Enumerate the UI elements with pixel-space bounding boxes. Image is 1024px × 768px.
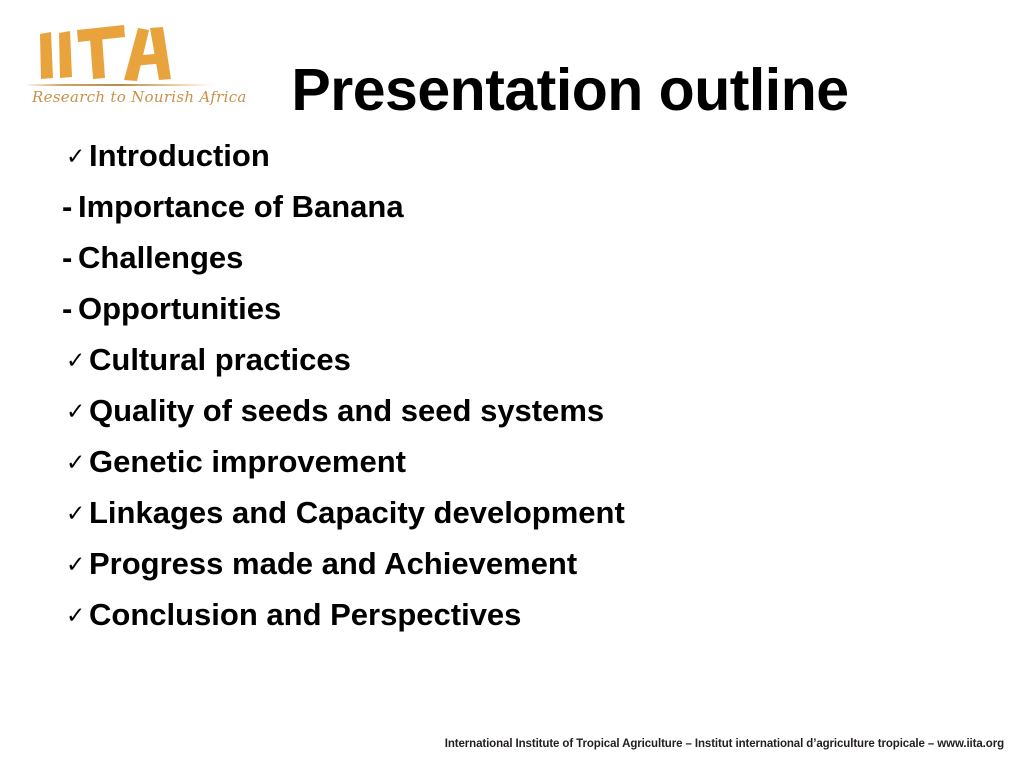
checkmark-icon: ✓ — [66, 335, 89, 386]
outline-item-label: Importance of Banana — [78, 189, 404, 224]
page-title: Presentation outline — [270, 60, 870, 122]
iita-logo-mark — [20, 22, 220, 88]
outline-item: ✓Quality of seeds and seed systems — [66, 385, 966, 436]
checkmark-icon: ✓ — [66, 386, 89, 437]
outline-item: -Challenges — [66, 232, 966, 283]
outline-item-label: Opportunities — [78, 291, 281, 326]
checkmark-icon: ✓ — [66, 131, 89, 182]
outline-item-label: Quality of seeds and seed systems — [89, 393, 604, 428]
outline-item: -Opportunities — [66, 283, 966, 334]
outline-item: ✓Progress made and Achievement — [66, 538, 966, 589]
checkmark-icon: ✓ — [66, 539, 89, 590]
checkmark-icon: ✓ — [66, 437, 89, 488]
iita-logo: Research to Nourish Africa — [20, 22, 220, 114]
outline-item: -Importance of Banana — [66, 181, 966, 232]
outline-item: ✓Cultural practices — [66, 334, 966, 385]
dash-bullet-icon: - — [62, 232, 78, 283]
checkmark-icon: ✓ — [66, 590, 89, 641]
presentation-slide: Research to Nourish Africa Presentation … — [0, 0, 1024, 768]
outline-list: ✓Introduction-Importance of Banana-Chall… — [66, 130, 966, 640]
outline-item: ✓Genetic improvement — [66, 436, 966, 487]
outline-item-label: Cultural practices — [89, 342, 351, 377]
outline-item-label: Genetic improvement — [89, 444, 406, 479]
logo-divider-line — [28, 84, 213, 86]
outline-item: ✓Introduction — [66, 130, 966, 181]
dash-bullet-icon: - — [62, 181, 78, 232]
outline-item: ✓Linkages and Capacity development — [66, 487, 966, 538]
outline-item-label: Challenges — [78, 240, 243, 275]
dash-bullet-icon: - — [62, 283, 78, 334]
outline-item: ✓Conclusion and Perspectives — [66, 589, 966, 640]
outline-item-label: Introduction — [89, 138, 270, 173]
checkmark-icon: ✓ — [66, 488, 89, 539]
slide-footer: International Institute of Tropical Agri… — [24, 738, 1004, 750]
logo-tagline: Research to Nourish Africa — [32, 88, 222, 106]
outline-item-label: Linkages and Capacity development — [89, 495, 625, 530]
outline-item-label: Progress made and Achievement — [89, 546, 577, 581]
outline-item-label: Conclusion and Perspectives — [89, 597, 521, 632]
